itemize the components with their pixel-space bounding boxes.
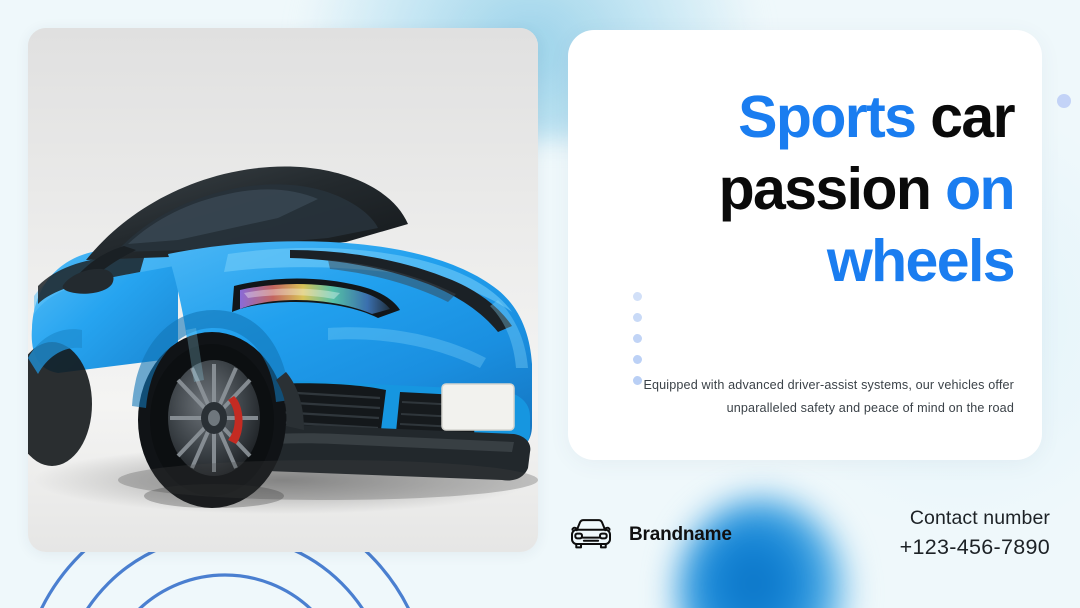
body-paragraph: Equipped with advanced driver-assist sys… — [614, 374, 1014, 420]
content-card: Sports car passion on wheels Equipped wi… — [568, 30, 1042, 460]
brand-lockup[interactable]: Brandname — [564, 516, 732, 554]
headline-word-passion: passion — [719, 156, 931, 222]
blue-sports-car-illustration — [28, 28, 538, 552]
decor-dot-4 — [633, 355, 642, 364]
floating-dot-decoration — [1057, 94, 1071, 108]
dot-list-decoration — [633, 292, 642, 385]
headline-word-on: on — [945, 156, 1014, 222]
headline-word-sports: Sports — [738, 84, 915, 150]
headline-word-car: car — [930, 84, 1014, 150]
car-photo-card — [28, 28, 538, 552]
contact-block: Contact number +123-456-7890 — [900, 506, 1050, 562]
decor-dot-2 — [633, 313, 642, 322]
decor-dot-3 — [633, 334, 642, 343]
brand-name-label: Brandname — [629, 524, 732, 546]
decor-dot-1 — [633, 292, 642, 301]
headline-word-wheels: wheels — [827, 228, 1014, 294]
poster-canvas: Sports car passion on wheels Equipped wi… — [0, 0, 1080, 608]
car-front-icon — [564, 516, 618, 554]
contact-number[interactable]: +123-456-7890 — [900, 533, 1050, 562]
contact-label: Contact number — [900, 506, 1050, 531]
page-title: Sports car passion on wheels — [614, 82, 1014, 298]
